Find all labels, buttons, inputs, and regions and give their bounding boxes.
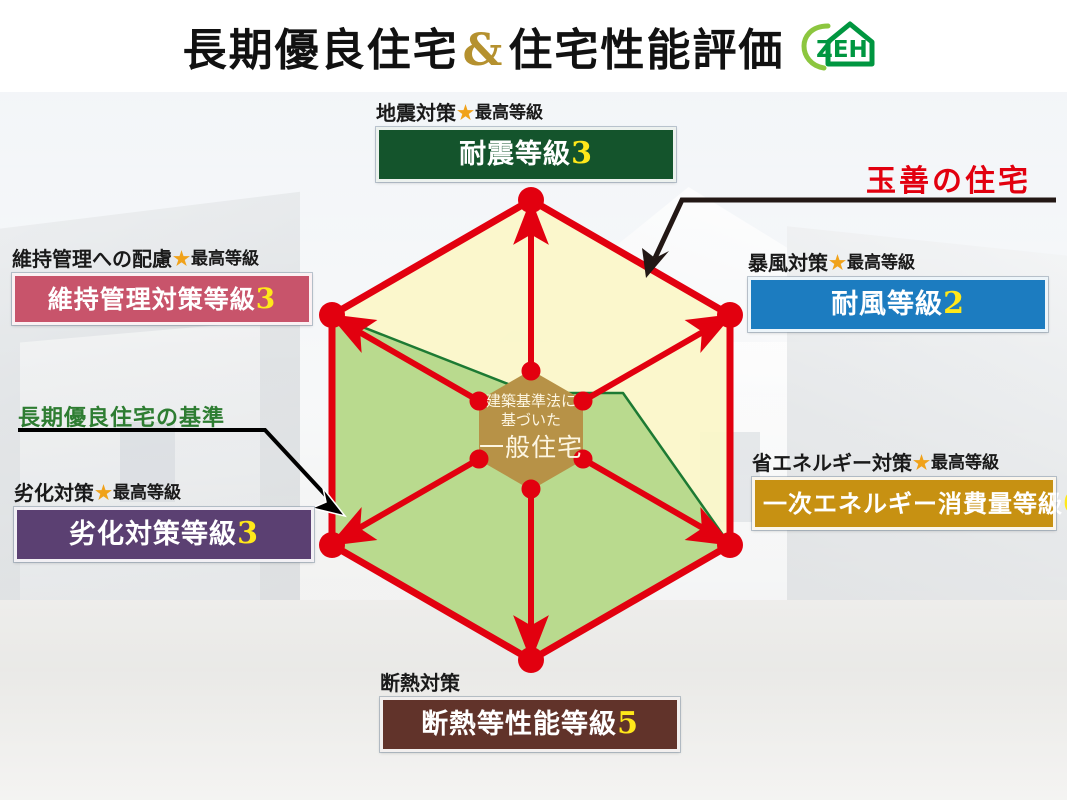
star-icon: ★ — [95, 483, 112, 504]
vertex-dot-energy — [717, 532, 743, 558]
callout-choki-label: 長期優良住宅の基準 — [18, 400, 225, 432]
badge-degradation-num: 3 — [237, 516, 259, 551]
star-icon: ★ — [173, 249, 190, 270]
badge-maintenance[interactable]: 維持管理対策等級3 — [12, 273, 312, 325]
badge-degradation-text: 劣化対策等級 — [69, 519, 237, 550]
vertex-dot-degradation — [319, 532, 345, 558]
badge-earthquake[interactable]: 耐震等級3 — [376, 127, 676, 182]
badge-insulation[interactable]: 断熱等性能等級5 — [380, 697, 680, 752]
label-group-earthquake: 地震対策 ★ 最高等級 耐震等級3 — [376, 102, 676, 182]
caption-earthquake-text: 地震対策 — [376, 102, 456, 124]
caption-insulation: 断熱対策 — [380, 672, 680, 694]
badge-degradation[interactable]: 劣化対策等級3 — [14, 507, 314, 562]
vertex-dot-earthquake — [518, 187, 544, 213]
caption-earthquake-sub: 最高等級 — [475, 104, 543, 123]
vertex-dot-maintenance — [319, 302, 345, 328]
badge-wind-text: 耐風等級 — [831, 289, 943, 320]
badge-maintenance-num: 3 — [256, 282, 276, 315]
page-title-part1: 長期優良住宅 — [183, 25, 459, 76]
label-group-maintenance: 維持管理への配慮 ★ 最高等級 維持管理対策等級3 — [12, 248, 312, 325]
spoke-origin-insulation — [525, 483, 538, 496]
caption-maintenance: 維持管理への配慮 ★ 最高等級 — [12, 248, 312, 270]
caption-insulation-text: 断熱対策 — [380, 672, 460, 694]
caption-energy: 省エネルギー対策 ★ 最高等級 — [752, 452, 1056, 474]
star-icon: ★ — [913, 453, 930, 474]
badge-insulation-num: 5 — [617, 706, 639, 741]
label-group-energy: 省エネルギー対策 ★ 最高等級 一次エネルギー消費量等級6 — [752, 452, 1056, 530]
caption-degradation-sub: 最高等級 — [113, 484, 181, 503]
page-title: 長期優良住宅&住宅性能評価 — [183, 14, 785, 78]
svg-text:ZEH: ZEH — [817, 37, 869, 63]
spoke-origin-energy — [577, 453, 590, 466]
caption-energy-sub: 最高等級 — [931, 454, 999, 473]
badge-wind-num: 2 — [943, 286, 965, 321]
page-title-ampersand: & — [459, 25, 509, 76]
page-title-part2: 住宅性能評価 — [508, 25, 784, 76]
caption-wind-text: 暴風対策 — [748, 252, 828, 274]
caption-maintenance-sub: 最高等級 — [191, 250, 259, 269]
spoke-origin-degradation — [473, 453, 486, 466]
label-group-insulation: 断熱対策 断熱等性能等級5 — [380, 672, 680, 752]
badge-energy-num: 6 — [1063, 488, 1067, 519]
callout-tamazen-label: 玉善の住宅 — [866, 156, 1031, 200]
caption-degradation: 劣化対策 ★ 最高等級 — [14, 482, 314, 504]
badge-insulation-text: 断熱等性能等級 — [421, 709, 617, 740]
spoke-origin-earthquake — [525, 365, 538, 378]
caption-wind-sub: 最高等級 — [847, 254, 915, 273]
caption-energy-text: 省エネルギー対策 — [752, 452, 912, 474]
star-icon: ★ — [829, 253, 846, 274]
label-group-degradation: 劣化対策 ★ 最高等級 劣化対策等級3 — [14, 482, 314, 562]
zeh-logo-icon: ZEH — [798, 18, 884, 74]
caption-maintenance-text: 維持管理への配慮 — [12, 248, 172, 270]
badge-maintenance-text: 維持管理対策等級 — [48, 285, 256, 314]
badge-earthquake-text: 耐震等級 — [459, 139, 571, 170]
label-group-wind: 暴風対策 ★ 最高等級 耐風等級2 — [748, 252, 1048, 332]
vertex-dot-wind — [717, 302, 743, 328]
caption-wind: 暴風対策 ★ 最高等級 — [748, 252, 1048, 274]
badge-earthquake-num: 3 — [571, 136, 593, 171]
badge-wind[interactable]: 耐風等級2 — [748, 277, 1048, 332]
spoke-origin-maintenance — [473, 395, 486, 408]
page-header: 長期優良住宅&住宅性能評価 ZEH — [0, 0, 1067, 92]
caption-degradation-text: 劣化対策 — [14, 482, 94, 504]
star-icon: ★ — [457, 103, 474, 124]
badge-energy-text: 一次エネルギー消費量等級 — [763, 489, 1063, 518]
vertex-dot-insulation — [518, 647, 544, 673]
badge-energy[interactable]: 一次エネルギー消費量等級6 — [752, 477, 1056, 530]
spoke-origin-wind — [577, 395, 590, 408]
caption-earthquake: 地震対策 ★ 最高等級 — [376, 102, 676, 124]
